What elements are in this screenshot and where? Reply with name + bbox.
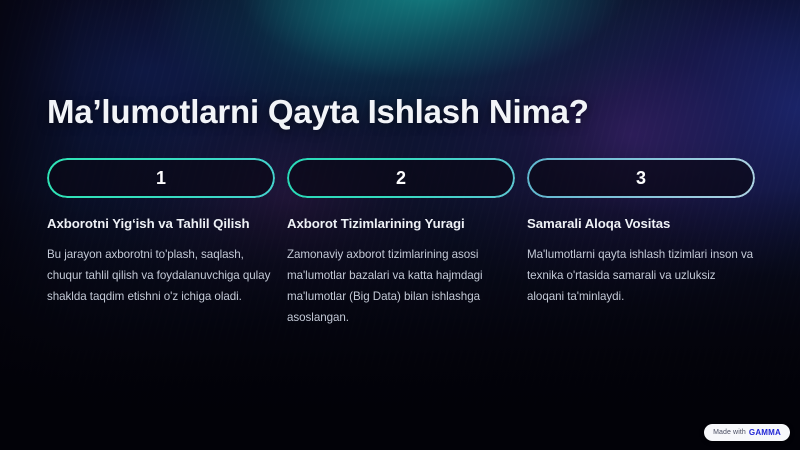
card-item: 1 Axborotni Yig‘ish va Tahlil Qilish Bu … (47, 158, 275, 328)
gamma-wordmark: GAMMA (749, 428, 781, 437)
badge-made-with-label: Made with (713, 429, 746, 436)
card-list: 1 Axborotni Yig‘ish va Tahlil Qilish Bu … (47, 158, 755, 328)
card-body-text: Zamonaviy axborot tizimlarining asosi ma… (287, 244, 515, 328)
step-number: 1 (156, 169, 166, 187)
step-badge-2: 2 (287, 158, 515, 198)
presentation-slide: Ma’lumotlarni Qayta Ishlash Nima? 1 Axbo… (0, 0, 800, 450)
step-number: 2 (396, 169, 406, 187)
step-badge-3: 3 (527, 158, 755, 198)
step-number: 3 (636, 169, 646, 187)
card-body-text: Ma'lumotlarni qayta ishlash tizimlari in… (527, 244, 755, 307)
step-badge-1: 1 (47, 158, 275, 198)
card-body-text: Bu jarayon axborotni to'plash, saqlash, … (47, 244, 275, 307)
made-with-gamma-badge[interactable]: Made with GAMMA (704, 424, 790, 441)
slide-title: Ma’lumotlarni Qayta Ishlash Nima? (47, 93, 589, 131)
card-heading: Axborotni Yig‘ish va Tahlil Qilish (47, 215, 275, 233)
card-heading: Samarali Aloqa Vositas (527, 215, 755, 233)
card-heading: Axborot Tizimlarining Yuragi (287, 215, 515, 233)
card-item: 2 Axborot Tizimlarining Yuragi Zamonaviy… (287, 158, 515, 328)
card-item: 3 Samarali Aloqa Vositas Ma'lumotlarni q… (527, 158, 755, 328)
